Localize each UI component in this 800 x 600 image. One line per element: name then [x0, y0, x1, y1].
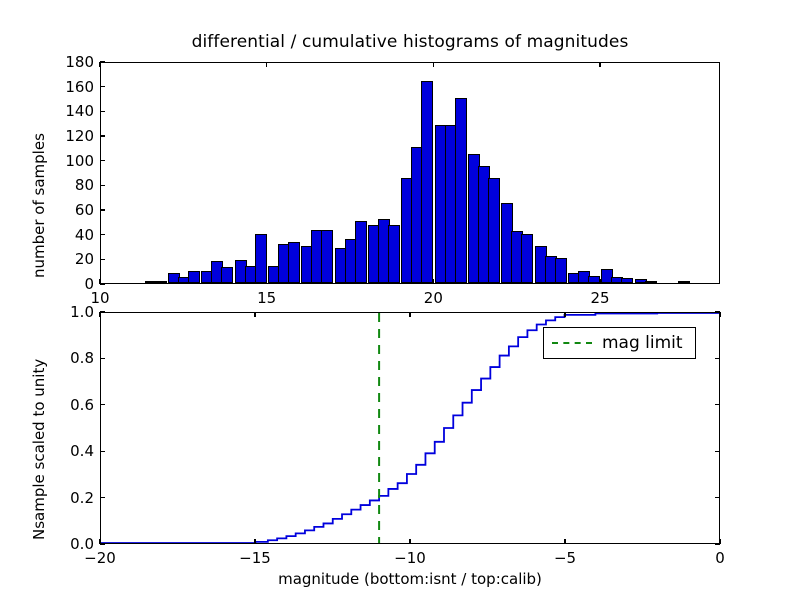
x-tick [599, 279, 600, 284]
y-tick [100, 111, 105, 112]
figure-canvas: differential / cumulative histograms of … [0, 0, 800, 600]
x-tick [719, 539, 720, 544]
y-tick [100, 259, 105, 260]
y-tick-label: 40 [52, 226, 94, 244]
y-tick [715, 451, 720, 452]
y-tick [100, 209, 105, 210]
mag-limit-legend-swatch [552, 342, 592, 344]
histogram-bar [621, 278, 633, 283]
histogram-bars-area [101, 63, 719, 283]
histogram-bar [488, 178, 500, 283]
bottom-y-axis-label: Nsample scaled to unity [30, 359, 48, 540]
histogram-bar [421, 81, 433, 283]
y-tick [100, 358, 105, 359]
y-tick [100, 497, 105, 498]
y-tick-label: 120 [52, 127, 94, 145]
histogram-bar [288, 242, 300, 283]
histogram-bar [355, 221, 367, 283]
y-tick-label: 160 [52, 78, 94, 96]
x-tick-label: −10 [394, 549, 426, 567]
y-tick [715, 404, 720, 405]
x-tick-label: 20 [424, 289, 443, 307]
x-tick [254, 539, 255, 544]
x-tick [433, 62, 434, 67]
y-tick [100, 543, 105, 544]
x-tick [266, 62, 267, 67]
x-tick [409, 312, 410, 317]
y-tick [100, 86, 105, 87]
x-tick [719, 312, 720, 317]
y-tick-label: 80 [52, 176, 94, 194]
x-tick [433, 279, 434, 284]
y-tick-label: 140 [52, 102, 94, 120]
x-tick-label: 0 [715, 549, 725, 567]
y-tick-label: 0.4 [52, 442, 94, 460]
x-tick [564, 312, 565, 317]
histogram-bar [555, 258, 567, 283]
y-tick-label: 60 [52, 201, 94, 219]
y-tick [100, 160, 105, 161]
mag-limit-legend-label: mag limit [602, 333, 683, 353]
x-tick-label: −20 [84, 549, 116, 567]
legend: mag limit [543, 327, 696, 359]
x-tick [564, 539, 565, 544]
histogram-bar [188, 271, 200, 283]
histogram-bar [221, 267, 233, 283]
y-tick-label: 100 [52, 152, 94, 170]
histogram-bar [255, 234, 267, 283]
y-tick [100, 61, 105, 62]
histogram-bar [588, 276, 600, 283]
y-tick [100, 404, 105, 405]
y-tick-label: 1.0 [52, 303, 94, 321]
x-tick [99, 279, 100, 284]
histogram-bar [455, 98, 467, 283]
y-tick [715, 497, 720, 498]
y-tick [100, 283, 105, 284]
y-tick [100, 311, 105, 312]
x-tick [266, 279, 267, 284]
x-tick-label: −15 [239, 549, 271, 567]
x-tick [254, 312, 255, 317]
y-tick-label: 0.6 [52, 396, 94, 414]
y-tick-label: 0.2 [52, 489, 94, 507]
x-tick [99, 539, 100, 544]
y-tick [100, 451, 105, 452]
histogram-bar [155, 281, 167, 283]
differential-histogram-axes [100, 62, 720, 284]
x-tick [99, 62, 100, 67]
y-tick [100, 135, 105, 136]
x-tick-label: −5 [554, 549, 576, 567]
y-tick [100, 185, 105, 186]
y-tick [715, 358, 720, 359]
top-y-axis-label: number of samples [30, 133, 48, 278]
x-tick-label: 15 [257, 289, 276, 307]
y-tick-label: 20 [52, 250, 94, 268]
histogram-bar [521, 234, 533, 283]
histogram-bar [321, 230, 333, 283]
histogram-bar [388, 225, 400, 283]
x-tick [599, 62, 600, 67]
x-tick [409, 539, 410, 544]
y-tick-label: 0.8 [52, 349, 94, 367]
chart-title: differential / cumulative histograms of … [100, 32, 720, 52]
histogram-bar [678, 281, 690, 283]
y-tick-label: 180 [52, 53, 94, 71]
x-tick [99, 312, 100, 317]
x-axis-label: magnitude (bottom:isnt / top:calib) [278, 570, 542, 588]
y-tick [100, 234, 105, 235]
y-tick-label: 0 [52, 275, 94, 293]
histogram-bar [645, 281, 657, 283]
x-tick-label: 25 [590, 289, 609, 307]
